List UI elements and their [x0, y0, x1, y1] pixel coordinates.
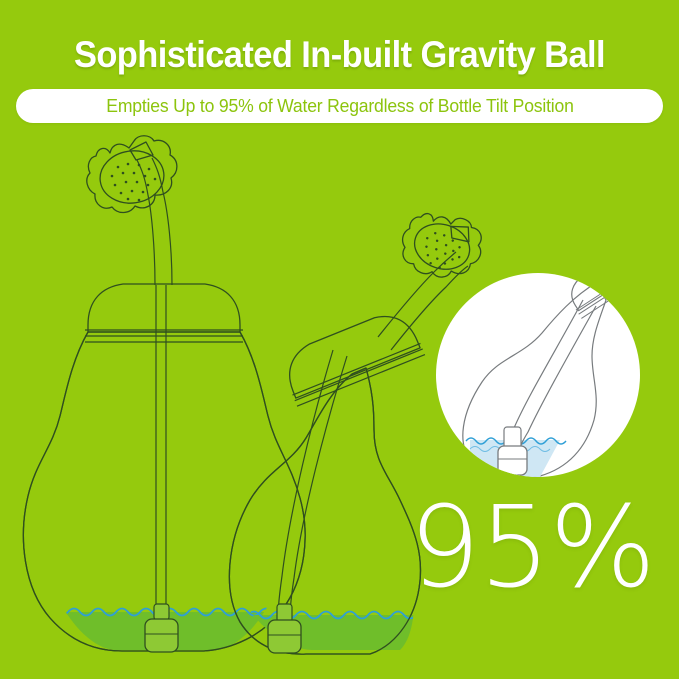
shower-head-upright: [87, 136, 177, 213]
bottle-cap-tilted: [277, 305, 425, 406]
stat-value: 95%: [404, 492, 660, 604]
gravity-ball-tilted: [268, 604, 301, 653]
bottle-body-upright: [23, 332, 305, 651]
promo-graphic: Sophisticated In-built Gravity Ball Empt…: [0, 0, 679, 679]
bottle-upright: [20, 136, 320, 662]
gravity-ball-upright: [145, 604, 178, 652]
bottle-cap-upright: [88, 284, 240, 332]
hose-upright: [137, 158, 172, 285]
inner-tube-upright: [156, 285, 166, 620]
shower-head-tilted: [392, 198, 492, 293]
subtitle-pill: Empties Up to 95% of Water Regardless of…: [16, 89, 663, 123]
gravity-ball-zoom-inset: [436, 249, 643, 481]
subtitle-text: Empties Up to 95% of Water Regardless of…: [106, 95, 573, 117]
page-title: Sophisticated In-built Gravity Ball: [24, 32, 655, 78]
